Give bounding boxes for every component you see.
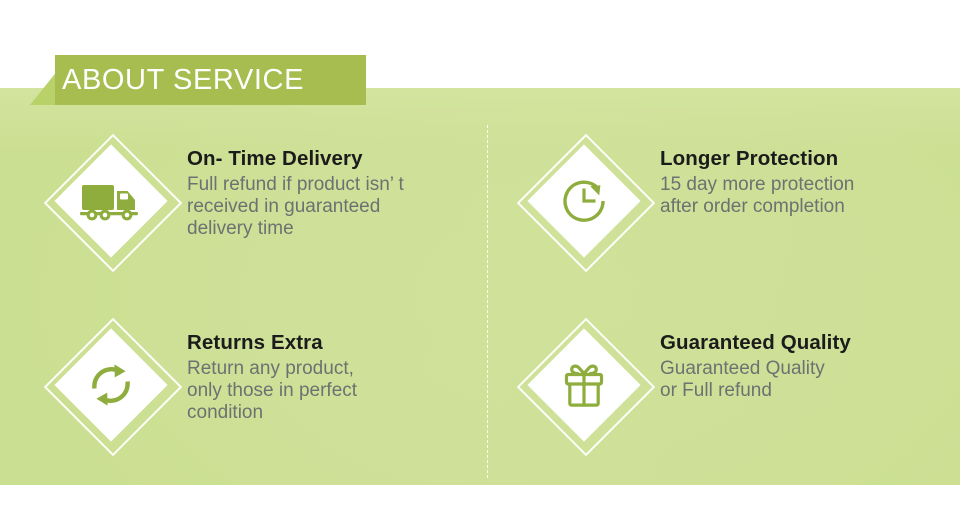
feature-title: Longer Protection (660, 148, 854, 171)
column-divider (487, 125, 488, 478)
about-service-banner: ABOUT SERVICE (0, 0, 960, 518)
icon-frame-diamond (525, 326, 643, 444)
feature-title: On- Time Delivery (187, 148, 404, 171)
feature-description-line: after order completion (660, 196, 854, 218)
truck-icon (52, 142, 170, 260)
clock-restore-icon (525, 142, 643, 260)
gift-icon (525, 326, 643, 444)
feature-text: Longer Protection 15 day more protection… (643, 142, 854, 218)
icon-frame-diamond (52, 326, 170, 444)
feature-text: On- Time Delivery Full refund if product… (170, 142, 404, 241)
feature-description: 15 day more protection after order compl… (660, 174, 854, 219)
icon-frame-diamond (525, 142, 643, 260)
feature-text: Guaranteed Quality Guaranteed Quality or… (643, 326, 851, 402)
page-title: ABOUT SERVICE (62, 55, 362, 105)
feature-description-line: Guaranteed Quality (660, 358, 851, 380)
feature-title: Returns Extra (187, 332, 357, 355)
feature-description-line: 15 day more protection (660, 174, 854, 196)
feature-description: Guaranteed Quality or Full refund (660, 358, 851, 403)
feature-returns-extra: Returns Extra Return any product, only t… (52, 326, 357, 444)
feature-longer-protection: Longer Protection 15 day more protection… (525, 142, 854, 260)
feature-description: Full refund if product isn’ t received i… (187, 174, 404, 241)
feature-description-line: condition (187, 402, 357, 424)
feature-guaranteed-quality: Guaranteed Quality Guaranteed Quality or… (525, 326, 851, 444)
feature-description-line: Full refund if product isn’ t (187, 174, 404, 196)
feature-on-time-delivery: On- Time Delivery Full refund if product… (52, 142, 404, 260)
icon-frame-diamond (52, 142, 170, 260)
feature-description-line: received in guaranteed (187, 196, 404, 218)
refresh-cycle-icon (52, 326, 170, 444)
feature-title: Guaranteed Quality (660, 332, 851, 355)
feature-description: Return any product, only those in perfec… (187, 358, 357, 425)
feature-description-line: only those in perfect (187, 380, 357, 402)
feature-description-line: Return any product, (187, 358, 357, 380)
feature-text: Returns Extra Return any product, only t… (170, 326, 357, 425)
feature-description-line: delivery time (187, 218, 404, 240)
feature-description-line: or Full refund (660, 380, 851, 402)
